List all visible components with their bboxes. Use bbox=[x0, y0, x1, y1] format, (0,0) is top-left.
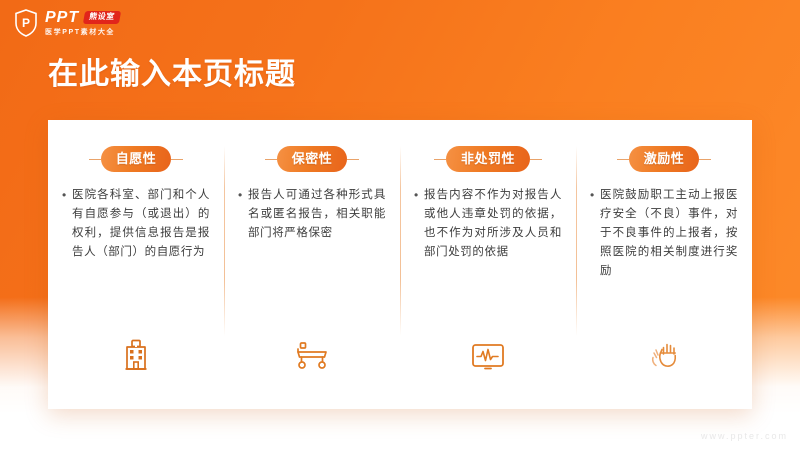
svg-text:P: P bbox=[22, 16, 30, 30]
bullet-marker: • bbox=[414, 186, 424, 205]
site-watermark: www.ppter.com bbox=[701, 431, 788, 441]
bullet-marker: • bbox=[590, 186, 600, 205]
column-title-pill: 自愿性 bbox=[101, 146, 172, 172]
heading-rule-left bbox=[265, 159, 277, 160]
column-body-text: 报告内容不作为对报告人或他人违章处罚的依据，也不作为对所涉及人员和部门处罚的依据 bbox=[424, 186, 562, 262]
brand-logo-text: PPT 熊设室 医学PPT素材大全 bbox=[45, 8, 120, 38]
ecg-monitor-icon bbox=[400, 337, 576, 371]
applause-hands-icon bbox=[576, 337, 752, 371]
hospital-building-icon bbox=[48, 337, 224, 371]
content-column: 自愿性 • 医院各科室、部门和个人有自愿参与（或退出）的权利，提供信息报告是报告… bbox=[48, 120, 224, 409]
heading-rule-right bbox=[530, 159, 542, 160]
column-title-pill: 保密性 bbox=[277, 146, 348, 172]
shield-icon: P bbox=[13, 8, 39, 38]
heading-rule-right bbox=[347, 159, 359, 160]
content-card: 自愿性 • 医院各科室、部门和个人有自愿参与（或退出）的权利，提供信息报告是报告… bbox=[48, 120, 752, 409]
heading-rule-right bbox=[699, 159, 711, 160]
column-title-pill: 激励性 bbox=[629, 146, 700, 172]
heading-rule-left bbox=[434, 159, 446, 160]
heading-rule-right bbox=[171, 159, 183, 160]
heading-rule-left bbox=[89, 159, 101, 160]
brand-logo-badge: 熊设室 bbox=[83, 11, 121, 24]
page-title: 在此输入本页标题 bbox=[48, 56, 296, 94]
column-heading: 保密性 bbox=[234, 146, 390, 172]
slide-canvas: P PPT 熊设室 医学PPT素材大全 在此输入本页标题 自愿性 • 医院各科室… bbox=[0, 0, 800, 450]
column-heading: 非处罚性 bbox=[410, 146, 566, 172]
column-body-text: 医院鼓励职工主动上报医疗安全（不良）事件，对于不良事件的上报者，按照医院的相关制… bbox=[600, 186, 738, 281]
column-body-text: 医院各科室、部门和个人有自愿参与（或退出）的权利，提供信息报告是报告人（部门）的… bbox=[72, 186, 210, 262]
brand-logo-main: PPT bbox=[45, 10, 79, 26]
column-title-pill: 非处罚性 bbox=[446, 146, 530, 172]
brand-logo: P PPT 熊设室 医学PPT素材大全 bbox=[13, 8, 120, 38]
column-body-text: 报告人可通过各种形式具名或匿名报告，相关职能部门将严格保密 bbox=[248, 186, 386, 243]
column-body: • 报告人可通过各种形式具名或匿名报告，相关职能部门将严格保密 bbox=[238, 186, 386, 243]
content-column: 保密性 • 报告人可通过各种形式具名或匿名报告，相关职能部门将严格保密 bbox=[224, 120, 400, 409]
content-column: 激励性 • 医院鼓励职工主动上报医疗安全（不良）事件，对于不良事件的上报者，按照… bbox=[576, 120, 752, 409]
column-heading: 自愿性 bbox=[58, 146, 214, 172]
column-body: • 报告内容不作为对报告人或他人违章处罚的依据，也不作为对所涉及人员和部门处罚的… bbox=[414, 186, 562, 262]
bullet-marker: • bbox=[238, 186, 248, 205]
column-body: • 医院鼓励职工主动上报医疗安全（不良）事件，对于不良事件的上报者，按照医院的相… bbox=[590, 186, 738, 281]
brand-logo-subtitle: 医学PPT素材大全 bbox=[45, 28, 120, 37]
column-body: • 医院各科室、部门和个人有自愿参与（或退出）的权利，提供信息报告是报告人（部门… bbox=[62, 186, 210, 262]
column-heading: 激励性 bbox=[586, 146, 742, 172]
bullet-marker: • bbox=[62, 186, 72, 205]
hospital-bed-icon bbox=[224, 337, 400, 371]
content-column: 非处罚性 • 报告内容不作为对报告人或他人违章处罚的依据，也不作为对所涉及人员和… bbox=[400, 120, 576, 409]
heading-rule-left bbox=[617, 159, 629, 160]
